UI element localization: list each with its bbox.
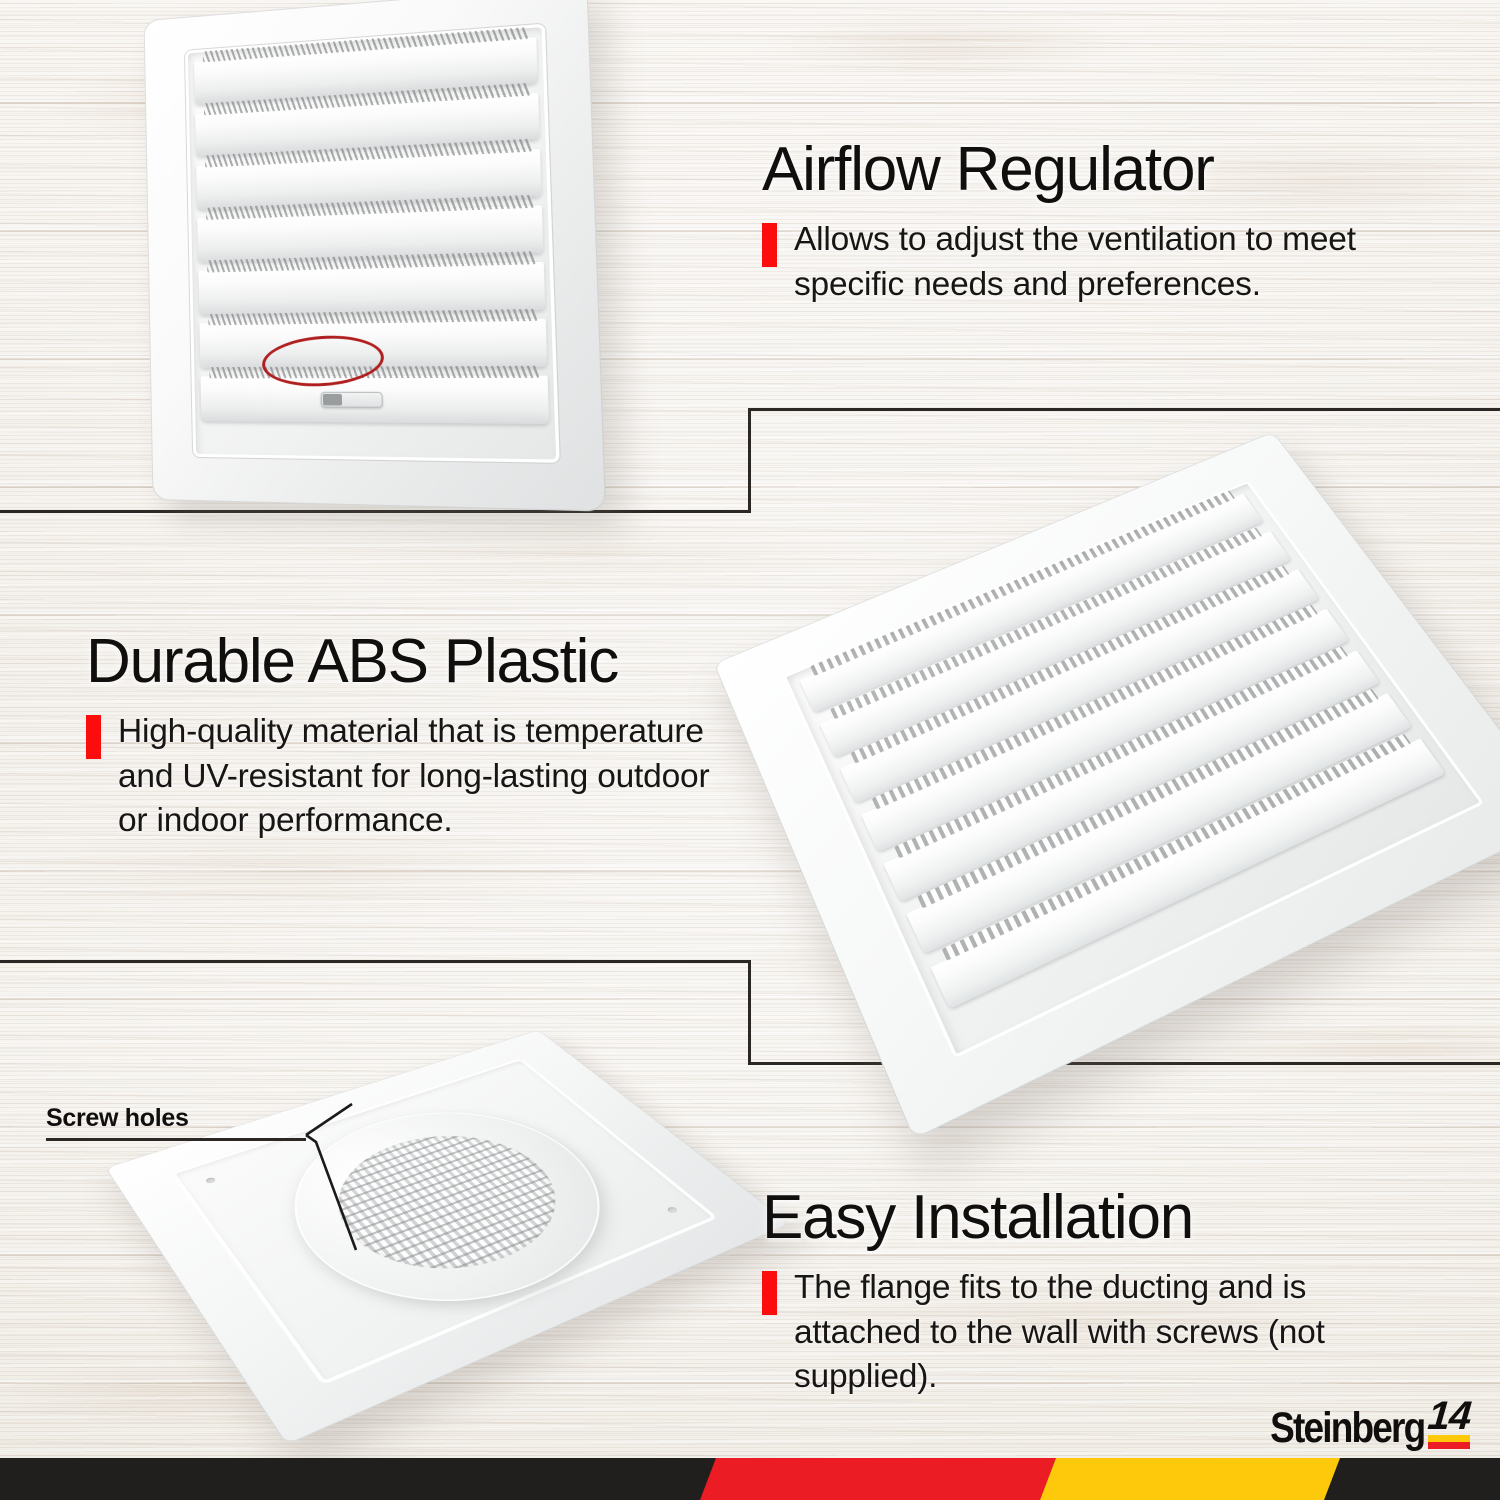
section-1-body-row: Allows to adjust the ventilation to meet… [762,218,1422,306]
infographic-canvas: Airflow Regulator Allows to adjust the v… [0,0,1500,1500]
footer-color-bar [0,1458,1500,1500]
footer-bar-yellow [1040,1458,1340,1500]
vent-angled-louver-stack [800,494,1466,1042]
vent-front-inner-bezel [185,23,560,462]
flange-mesh-grille [302,1115,599,1298]
vent-rear-transform [105,1030,790,1445]
vent-angled-inner-bezel [783,481,1483,1058]
section-1-headline: Airflow Regulator [762,138,1422,202]
product-image-vent-front [148,18,568,498]
section-airflow-regulator-text: Airflow Regulator Allows to adjust the v… [762,138,1422,307]
vent-front-frame [144,0,607,512]
divider-2-lower-segment [748,1062,1500,1065]
accent-bar [86,715,101,759]
section-3-body-row: The flange fits to the ducting and is at… [762,1266,1422,1399]
callout-label: Screw holes [46,1104,306,1133]
divider-1-riser [748,408,751,513]
product-image-vent-rear [168,980,708,1410]
screw-hole [666,1206,679,1214]
footer-bar-red [700,1458,1056,1500]
brand-mark: 14 [1428,1398,1471,1449]
screw-hole [204,1177,216,1184]
section-2-body-row: High-quality material that is temperatur… [86,710,746,843]
vent-rear-faceplate [105,1030,790,1445]
section-2-headline: Durable ABS Plastic [86,630,746,694]
section-1-body: Allows to adjust the ventilation to meet… [794,218,1356,306]
flag-stripe-red [1428,1442,1471,1449]
brand-name: Steinberg [1270,1407,1424,1450]
callout-underline [46,1138,306,1141]
brand-number: 14 [1426,1398,1472,1435]
divider-1-lower-segment [0,510,751,513]
section-3-body: The flange fits to the ducting and is at… [794,1266,1325,1399]
section-durable-abs-plastic-text: Durable ABS Plastic High-quality materia… [86,630,746,843]
brand-logo: Steinberg 14 [1245,1398,1470,1450]
divider-1-upper-segment [748,408,1500,411]
section-easy-installation-text: Easy Installation The flange fits to the… [762,1186,1422,1399]
accent-bar [762,223,777,267]
divider-2-upper-segment [0,960,751,963]
section-3-headline: Easy Installation [762,1186,1422,1250]
callout-screw-holes: Screw holes [46,1104,306,1141]
louver [198,262,545,315]
section-2-body: High-quality material that is temperatur… [118,710,709,843]
accent-bar [762,1271,777,1315]
airflow-regulator-slider [321,392,383,408]
product-image-vent-angled [782,452,1454,1022]
divider-2-riser [748,960,751,1065]
